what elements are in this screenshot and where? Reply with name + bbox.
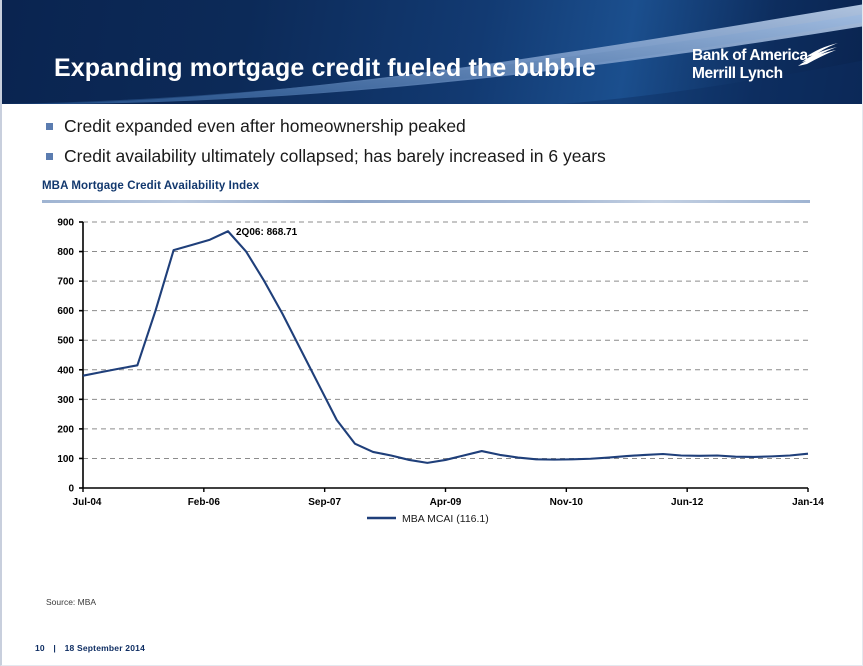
x-tick-label: Nov-10 <box>550 497 584 508</box>
mcai-line-chart: 0100200300400500600700800900 Jul-04Feb-0… <box>2 205 863 535</box>
chart-gridlines <box>83 222 808 458</box>
source-note: Source: MBA <box>46 597 96 607</box>
y-tick-label: 800 <box>57 247 74 258</box>
y-tick-label: 500 <box>57 336 74 347</box>
y-tick-label: 400 <box>57 365 74 376</box>
list-item: Credit availability ultimately collapsed… <box>46 144 836 168</box>
y-tick-label: 300 <box>57 395 74 406</box>
chart-heading: MBA Mortgage Credit Availability Index <box>42 180 259 192</box>
y-tick-label: 0 <box>68 484 74 495</box>
chart-y-axis-labels: 0100200300400500600700800900 <box>57 218 74 495</box>
bullet-square-icon <box>46 153 53 160</box>
chart-legend: MBA MCAI (116.1) <box>367 513 489 525</box>
bullet-text: Credit expanded even after homeownership… <box>64 114 466 138</box>
page-number: 10 <box>35 643 45 653</box>
slide-footer: 10 | 18 September 2014 <box>35 643 151 653</box>
y-tick-label: 900 <box>57 218 74 229</box>
x-tick-label: Sep-07 <box>308 497 341 508</box>
page-title: Expanding mortgage credit fueled the bub… <box>54 54 596 83</box>
x-tick-label: Jan-14 <box>792 497 824 508</box>
y-tick-label: 200 <box>57 424 74 435</box>
chart-heading-rule <box>42 200 810 203</box>
bullet-text: Credit availability ultimately collapsed… <box>64 144 606 168</box>
bullet-list: Credit expanded even after homeownership… <box>46 114 836 174</box>
chart-x-axis-labels: Jul-04Feb-06Sep-07Apr-09Nov-10Jun-12Jan-… <box>73 497 825 508</box>
slide-header: Expanding mortgage credit fueled the bub… <box>2 0 863 104</box>
y-tick-label: 600 <box>57 306 74 317</box>
bofa-merrill-logo: Bank of America Merrill Lynch <box>692 47 837 91</box>
chart-annotation-peak: 2Q06: 868.71 <box>236 227 298 238</box>
bofa-flag-icon <box>794 41 840 67</box>
x-tick-label: Jun-12 <box>671 497 704 508</box>
footer-date: 18 September 2014 <box>65 643 145 653</box>
bullet-square-icon <box>46 123 53 130</box>
x-tick-label: Feb-06 <box>188 497 221 508</box>
logo-line-2: Merrill Lynch <box>692 65 837 83</box>
slide: Expanding mortgage credit fueled the bub… <box>0 0 863 666</box>
y-tick-label: 100 <box>57 454 74 465</box>
x-tick-label: Jul-04 <box>73 497 102 508</box>
x-tick-label: Apr-09 <box>430 497 462 508</box>
chart-series-line <box>83 231 808 463</box>
legend-label: MBA MCAI (116.1) <box>402 513 489 525</box>
footer-separator: | <box>53 643 56 653</box>
y-tick-label: 700 <box>57 277 74 288</box>
list-item: Credit expanded even after homeownership… <box>46 114 836 138</box>
